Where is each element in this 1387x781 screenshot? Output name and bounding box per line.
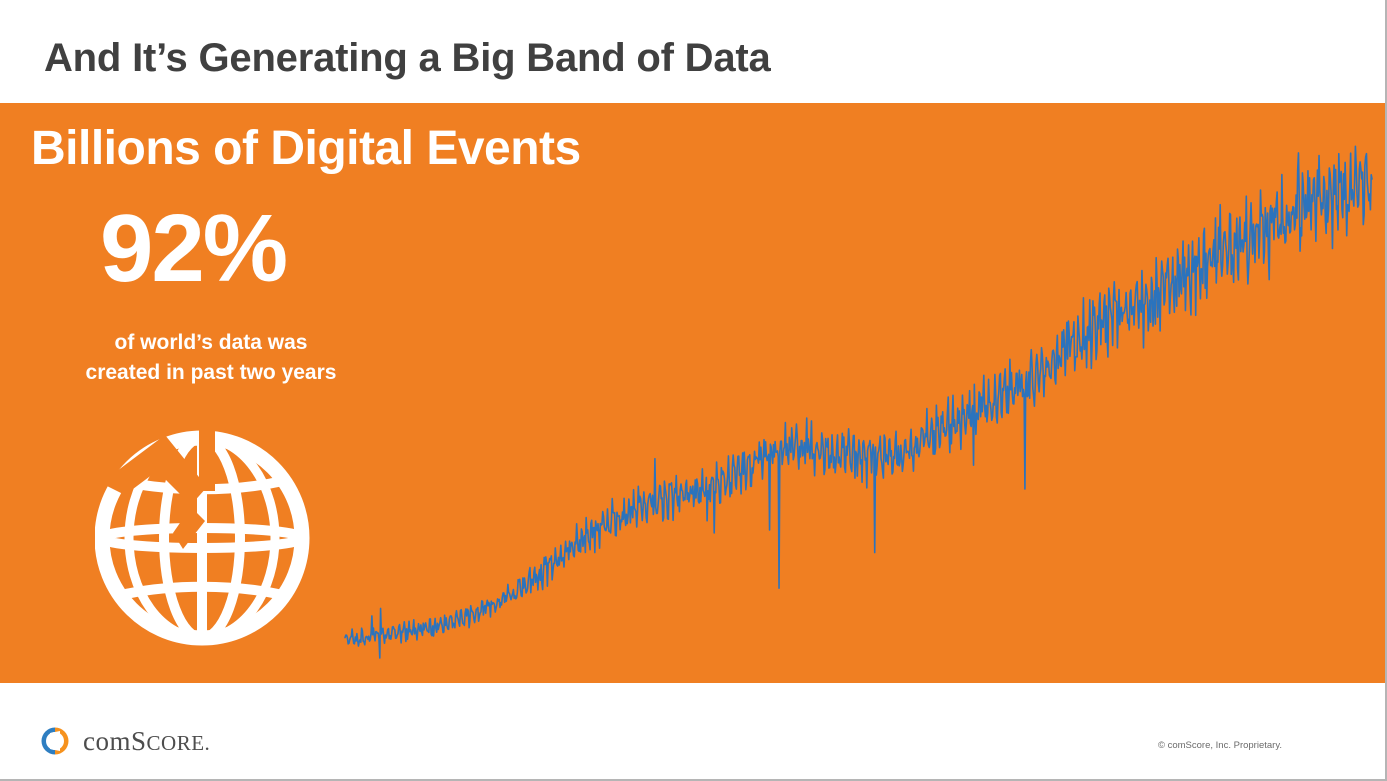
stat-percentage: 92% (100, 201, 286, 297)
chart-line (345, 146, 1372, 658)
stat-caption: of world’s data was created in past two … (31, 328, 391, 389)
stat-caption-line-2: created in past two years (31, 358, 391, 388)
globe-icon-svg (95, 421, 310, 646)
copyright-text: © comScore, Inc. Proprietary. (1158, 740, 1282, 751)
slide: And It’s Generating a Big Band of Data B… (0, 0, 1387, 781)
comscore-logo-mark-icon (40, 726, 70, 756)
comscore-wordmark: comSCORE. (83, 728, 210, 755)
globe-icon (95, 421, 310, 646)
comscore-logo: comSCORE. (40, 726, 210, 756)
slide-header: And It’s Generating a Big Band of Data (0, 0, 1387, 103)
wordmark-s: S (131, 726, 147, 756)
orange-content-panel: Billions of Digital Events 92% of world’… (0, 103, 1385, 683)
wordmark-com: com (83, 726, 131, 756)
wordmark-dot: . (205, 731, 211, 755)
page-title: And It’s Generating a Big Band of Data (44, 36, 771, 81)
panel-heading: Billions of Digital Events (31, 121, 581, 176)
wordmark-core: CORE (147, 731, 205, 755)
stat-caption-line-1: of world’s data was (31, 328, 391, 358)
